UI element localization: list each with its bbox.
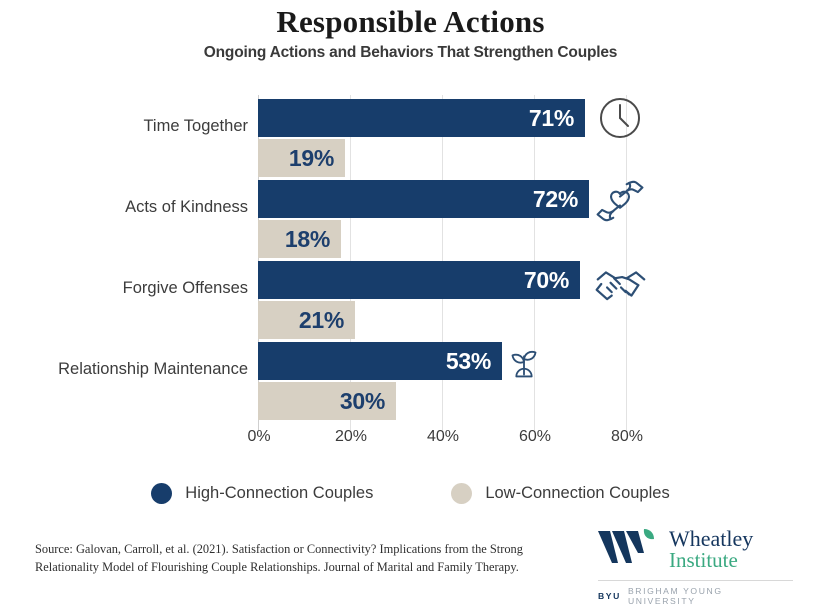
wheatley-institute-logo: Wheatley Institute BYU BRIGHAM YOUNG UNI… (598, 525, 793, 606)
legend-item-low-connection[interactable]: Low-Connection Couples (451, 483, 669, 504)
source-line-2: Relationality Model of Flourishing Coupl… (35, 558, 580, 576)
bar-high-time-together[interactable]: 71% (258, 99, 585, 137)
byu-mark: BYU (598, 591, 621, 601)
bar-low-time-together[interactable]: 19% (258, 139, 345, 177)
bar-low-acts-of-kindness[interactable]: 18% (258, 220, 341, 258)
seedling-icon (500, 339, 550, 389)
clock-icon (595, 93, 645, 143)
legend-label-low-connection: Low-Connection Couples (485, 484, 669, 503)
source-line-1: Source: Galovan, Carroll, et al. (2021).… (35, 540, 580, 558)
bar-value-low-time-together: 19% (289, 145, 345, 172)
bar-value-low-relationship-maintenance: 30% (340, 388, 396, 415)
legend-swatch-low-connection (451, 483, 472, 504)
xtick-0: 0% (224, 428, 294, 446)
wheatley-w-mark-icon (598, 525, 660, 574)
bar-low-forgive-offenses[interactable]: 21% (258, 301, 355, 339)
logo-name-bottom: Institute (669, 550, 753, 571)
legend: High-Connection Couples Low-Connection C… (0, 483, 821, 504)
bar-low-relationship-maintenance[interactable]: 30% (258, 382, 396, 420)
logo-lockup: Wheatley Institute (598, 525, 793, 574)
logo-name-top: Wheatley (669, 528, 753, 550)
page-title: Responsible Actions (0, 4, 821, 40)
chart-page: { "chart_data": { "type": "bar", "orient… (0, 0, 821, 615)
bar-value-high-time-together: 71% (529, 105, 585, 132)
legend-swatch-high-connection (151, 483, 172, 504)
bar-high-relationship-maintenance[interactable]: 53% (258, 342, 502, 380)
bar-value-high-forgive-offenses: 70% (524, 267, 580, 294)
category-label-relationship-maintenance: Relationship Maintenance (0, 360, 248, 379)
bar-value-high-acts-of-kindness: 72% (533, 186, 589, 213)
category-label-forgive-offenses: Forgive Offenses (0, 279, 248, 298)
hands-heart-icon (592, 173, 642, 223)
page-subtitle: Ongoing Actions and Behaviors That Stren… (0, 44, 821, 62)
legend-item-high-connection[interactable]: High-Connection Couples (151, 483, 373, 504)
logo-divider (598, 580, 793, 581)
category-label-acts-of-kindness: Acts of Kindness (0, 198, 248, 217)
xtick-60: 60% (500, 428, 570, 446)
xtick-20: 20% (316, 428, 386, 446)
plot-area: Time Together 71% 19% Acts of Kindness 7… (0, 95, 821, 435)
category-label-time-together: Time Together (0, 117, 248, 136)
byu-lockup: BYU BRIGHAM YOUNG UNIVERSITY (598, 586, 793, 606)
handshake-icon (592, 255, 642, 305)
bar-high-acts-of-kindness[interactable]: 72% (258, 180, 589, 218)
source-citation: Source: Galovan, Carroll, et al. (2021).… (35, 540, 580, 577)
xtick-80: 80% (592, 428, 662, 446)
bar-value-low-acts-of-kindness: 18% (285, 226, 341, 253)
legend-label-high-connection: High-Connection Couples (185, 484, 373, 503)
byu-name: BRIGHAM YOUNG UNIVERSITY (628, 586, 793, 606)
bar-high-forgive-offenses[interactable]: 70% (258, 261, 580, 299)
xtick-40: 40% (408, 428, 478, 446)
logo-wordmark: Wheatley Institute (669, 528, 753, 570)
bar-value-low-forgive-offenses: 21% (299, 307, 355, 334)
bar-value-high-relationship-maintenance: 53% (446, 348, 502, 375)
